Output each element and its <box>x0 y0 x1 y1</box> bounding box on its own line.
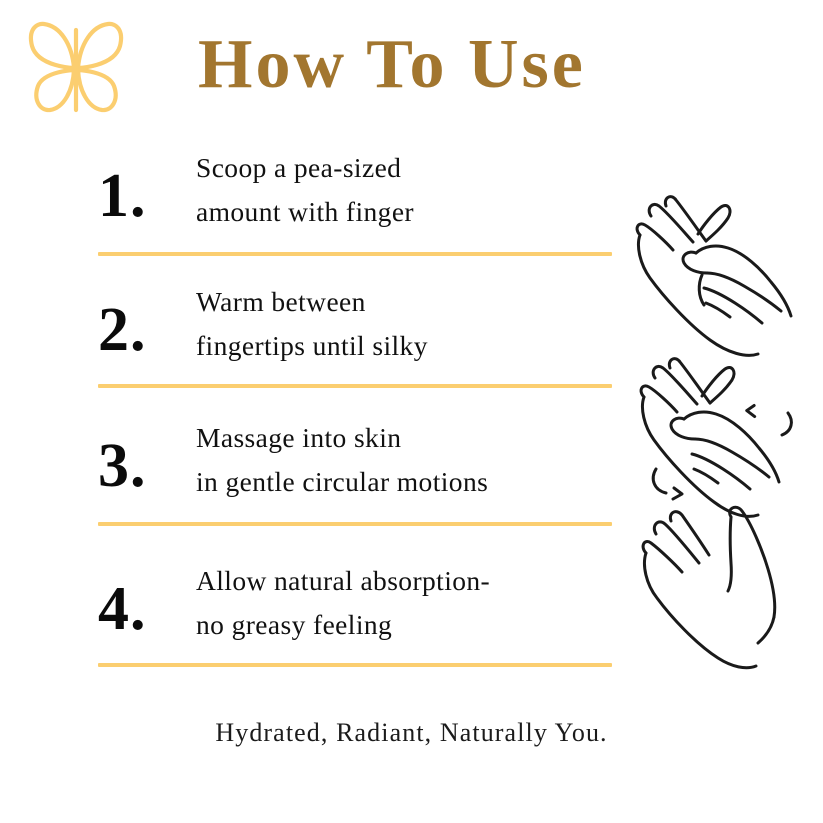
step-text-line2: fingertips until silky <box>196 324 616 368</box>
arrow-right-head <box>673 488 682 499</box>
step-text-line2: in gentle circular motions <box>196 460 636 504</box>
arrow-left-head <box>746 406 755 418</box>
step-text-line1: Warm between <box>196 286 366 317</box>
step-text: Massage into skin in gentle circular mot… <box>196 416 636 504</box>
page-title: How To Use <box>198 22 586 108</box>
step-text-line2: no greasy feeling <box>196 603 636 647</box>
illustration-column <box>618 160 823 690</box>
step-number: 3. <box>98 418 184 514</box>
step-number: 2. <box>98 282 184 378</box>
open-hand-icon <box>618 505 818 685</box>
hands-scooping-icon <box>618 172 818 362</box>
arrow-left-path <box>782 413 791 435</box>
page-header: How To Use <box>0 0 823 130</box>
step-text-line1: Allow natural absorption- <box>196 565 490 596</box>
step-text: Warm between fingertips until silky <box>196 280 616 368</box>
step-number: 1. <box>98 148 184 244</box>
step-text: Scoop a pea-sized amount with finger <box>196 146 616 234</box>
step-divider <box>98 384 612 388</box>
footer-tagline: Hydrated, Radiant, Naturally You. <box>0 718 823 748</box>
step-number: 4. <box>98 561 184 657</box>
arrow-right-path <box>653 469 666 493</box>
butterfly-icon <box>22 18 130 118</box>
step-text-line1: Scoop a pea-sized <box>196 152 401 183</box>
step-text-line1: Massage into skin <box>196 422 401 453</box>
step-text-line2: amount with finger <box>196 190 616 234</box>
step-text: Allow natural absorption- no greasy feel… <box>196 559 636 647</box>
step-divider <box>98 522 612 526</box>
step-divider <box>98 663 612 667</box>
